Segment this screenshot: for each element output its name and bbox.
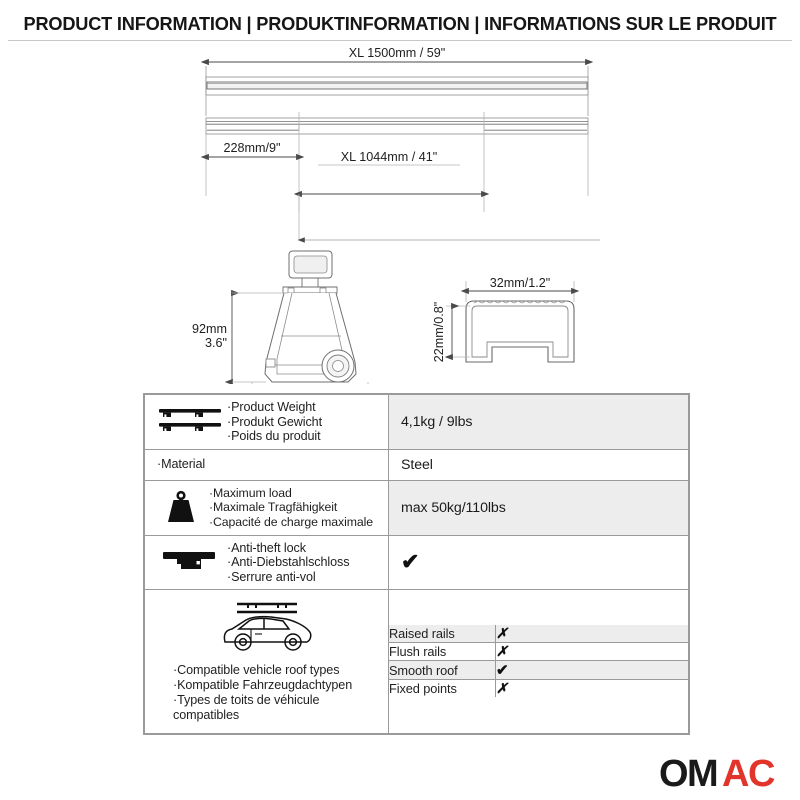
table-row-product-weight: ·Product Weight ·Produkt Gewicht ·Poids … (145, 395, 689, 450)
dim-span (301, 165, 482, 194)
specification-table: ·Product Weight ·Produkt Gewicht ·Poids … (143, 393, 690, 735)
table-row-anti-theft-lock: ·Anti-theft lock ·Anti-Diebstahlschloss … (145, 535, 689, 590)
roof-bar-top-view (206, 77, 588, 95)
roof-type-name: Smooth roof (389, 661, 496, 680)
logo-text-dark: OM (659, 755, 717, 793)
row-label-material: ·Material (153, 457, 205, 472)
roof-type-mark: ✔ (496, 661, 689, 680)
roof-type-row: Flush rails ✗ (389, 643, 688, 661)
dim-foot-height-label-in: 3.6" (205, 336, 227, 350)
bar-cross-section (466, 301, 574, 362)
roof-type-mark: ✗ (496, 625, 689, 643)
page-title: PRODUCT INFORMATION | PRODUKTINFORMATION… (0, 14, 800, 35)
dim-span-label: XL 1044mm / 41" (341, 150, 437, 164)
row-label-roof-types: ·Compatible vehicle roof types ·Kompatib… (151, 663, 352, 722)
weight-icon (153, 489, 209, 527)
roof-type-row: Smooth roof ✔ (389, 661, 688, 680)
roof-type-row: Fixed points ✗ (389, 680, 688, 698)
table-row-maximum-load: ·Maximum load ·Maximale Tragfähigkeit ·C… (145, 480, 689, 535)
value-product-weight: 4,1kg / 9lbs (389, 408, 688, 436)
lock-icon (153, 547, 227, 577)
logo-text-red: AC (722, 755, 775, 793)
dim-overall-length-label: XL 1500mm / 59" (349, 46, 445, 60)
dim-profile-width-label: 32mm/1.2" (490, 276, 550, 290)
roof-types-subtable: Raised rails ✗ Flush rails ✗ (389, 625, 688, 697)
crossbar-icon (153, 405, 227, 439)
roof-bar-side-view (206, 118, 588, 134)
product-information-sheet: PRODUCT INFORMATION | PRODUKTINFORMATION… (0, 0, 800, 800)
car-with-crossbars-icon (215, 598, 319, 659)
dim-foot-height-label: 92mm (192, 322, 227, 336)
row-label-maximum-load: ·Maximum load ·Maximale Tragfähigkeit ·C… (209, 486, 373, 530)
roof-type-mark: ✗ (496, 643, 689, 661)
omac-logo: OM AC (659, 755, 791, 793)
foot-front-view (265, 251, 356, 382)
title-divider (8, 40, 792, 41)
roof-type-name: Raised rails (389, 625, 496, 643)
value-anti-theft-lock: ✔ (389, 545, 688, 579)
value-material: Steel (389, 451, 688, 479)
dim-foot-offset-label: 228mm/9" (224, 141, 281, 155)
table-row-material: ·Material Steel (145, 449, 689, 480)
value-maximum-load: max 50kg/110lbs (389, 494, 688, 522)
row-label-product-weight: ·Product Weight ·Produkt Gewicht ·Poids … (227, 400, 322, 444)
technical-drawing: XL 1500mm / 59" 228mm/9" XL 1044mm / 41"… (0, 44, 800, 384)
table-row-roof-types: ·Compatible vehicle roof types ·Kompatib… (145, 590, 689, 733)
row-label-anti-theft-lock: ·Anti-theft lock ·Anti-Diebstahlschloss … (227, 541, 349, 585)
roof-type-name: Flush rails (389, 643, 496, 661)
dim-profile-height-label: 22mm/0.8" (432, 302, 446, 362)
roof-type-row: Raised rails ✗ (389, 625, 688, 643)
roof-type-name: Fixed points (389, 680, 496, 698)
roof-type-mark: ✗ (496, 680, 689, 698)
